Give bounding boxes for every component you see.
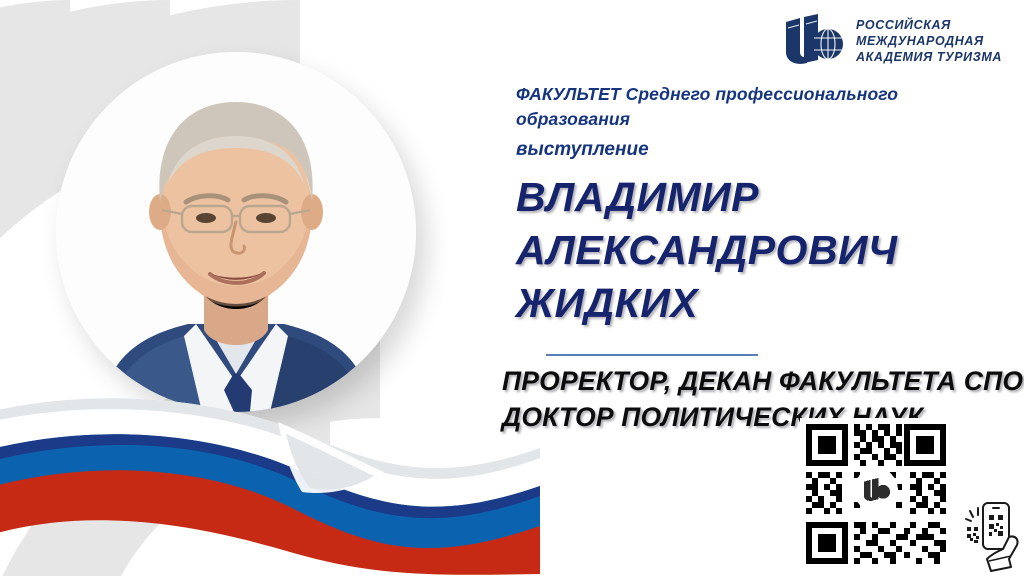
event-label: выступление xyxy=(516,136,1016,163)
rmat-logo-icon xyxy=(782,14,844,68)
scan-qr-with-phone-icon xyxy=(963,497,1021,573)
qr-code[interactable] xyxy=(800,418,952,570)
qr-center-logo-icon xyxy=(854,468,898,512)
speaker-first-name: ВЛАДИМИР xyxy=(516,174,759,220)
faculty-label: ФАКУЛЬТЕТ Среднего профессионального обр… xyxy=(516,82,936,132)
announcement-text: ФАКУЛЬТЕТ Среднего профессионального обр… xyxy=(516,82,1016,330)
logo-line-2: МЕЖДУНАРОДНАЯ xyxy=(856,34,984,48)
presentation-slide: Портрет выступающего xyxy=(0,0,1024,576)
academy-logo-text: РОССИЙСКАЯ МЕЖДУНАРОДНАЯ АКАДЕМИЯ ТУРИЗМ… xyxy=(856,17,1002,65)
speaker-middle-name: АЛЕКСАНДРОВИЧ xyxy=(516,227,898,273)
speaker-portrait: Портрет выступающего xyxy=(56,52,416,412)
speaker-name: ВЛАДИМИР АЛЕКСАНДРОВИЧ ЖИДКИХ xyxy=(516,171,1016,330)
logo-line-3: АКАДЕМИЯ ТУРИЗМА xyxy=(856,50,1002,64)
academy-logo: РОССИЙСКАЯ МЕЖДУНАРОДНАЯ АКАДЕМИЯ ТУРИЗМ… xyxy=(782,14,1002,68)
portrait-image: Портрет выступающего xyxy=(56,52,416,412)
logo-line-1: РОССИЙСКАЯ xyxy=(856,18,951,32)
title-divider xyxy=(546,354,758,356)
arc-bottom-outer xyxy=(30,390,330,576)
speaker-last-name: ЖИДКИХ xyxy=(516,280,698,326)
role-line-1: ПРОРЕКТОР, ДЕКАН ФАКУЛЬТЕТА СПО xyxy=(502,363,1022,399)
